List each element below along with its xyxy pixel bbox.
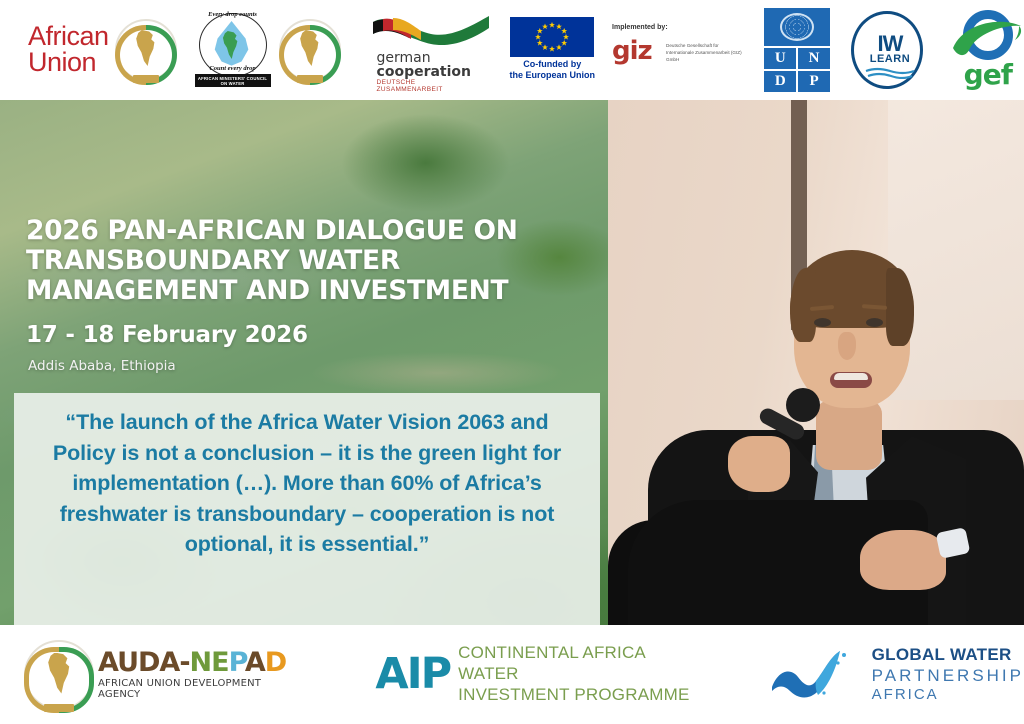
giz-subtext: Deutsche Gesellschaft für Internationale… bbox=[666, 42, 746, 63]
eu-caption-line2: the European Union bbox=[500, 70, 604, 81]
event-banner: 2026 PAN-AFRICAN DIALOGUE ON TRANSBOUNDA… bbox=[0, 100, 1024, 625]
logo-african-union-emblem bbox=[279, 19, 341, 81]
african-union-wordmark: African Union bbox=[28, 24, 109, 76]
footer-logo-bar: AUDA-NEPAD AFRICAN UNION DEVELOPMENT AGE… bbox=[0, 625, 1024, 724]
event-title: 2026 PAN-AFRICAN DIALOGUE ON TRANSBOUNDA… bbox=[26, 216, 546, 307]
logo-german-cooperation: german cooperation DEUTSCHE ZUSAMMENARBE… bbox=[363, 12, 483, 88]
eu-flag-icon bbox=[510, 17, 594, 57]
aip-fullname: CONTINENTAL AFRICA WATER INVESTMENT PROG… bbox=[458, 643, 701, 705]
african-union-emblem-icon bbox=[115, 19, 177, 81]
logo-undp: U N D P bbox=[764, 8, 825, 92]
african-union-emblem-icon-2 bbox=[279, 19, 341, 81]
wave-icon bbox=[865, 67, 915, 79]
german-cooperation-line2: cooperation bbox=[377, 64, 471, 80]
gef-swoosh-icon bbox=[949, 16, 1024, 60]
gwp-wave-icon bbox=[768, 645, 864, 705]
poster-root: African Union Every drop counts Count ev… bbox=[0, 0, 1024, 724]
auda-part-ne: NE bbox=[190, 647, 229, 678]
logo-giz: Implemented by: giz Deutsche Gesellschaf… bbox=[604, 20, 742, 80]
undp-letter-d: D bbox=[764, 71, 796, 92]
event-location: Addis Ababa, Ethiopia bbox=[28, 358, 176, 374]
auda-nepad-emblem-icon bbox=[24, 640, 94, 710]
logo-auda-nepad: AUDA-NEPAD AFRICAN UNION DEVELOPMENT AGE… bbox=[24, 640, 299, 710]
gwp-line2: PARTNERSHIP bbox=[872, 666, 1024, 686]
speaker-photo bbox=[608, 100, 1024, 625]
eu-caption-line1: Co-funded by bbox=[500, 59, 604, 70]
auda-part-dash: - bbox=[179, 647, 189, 678]
logo-gef: gef bbox=[945, 8, 1024, 92]
gwp-line1: GLOBAL WATER bbox=[872, 645, 1024, 665]
giz-implemented-by-label: Implemented by: bbox=[612, 24, 668, 31]
amcow-top-text: Every drop counts bbox=[197, 11, 269, 18]
logo-global-water-partnership: GLOBAL WATER PARTNERSHIP AFRICA bbox=[768, 645, 1024, 705]
auda-part-auda: AUDA bbox=[98, 647, 179, 678]
logo-african-union: African Union bbox=[28, 4, 177, 96]
german-cooperation-line3: DEUTSCHE ZUSAMMENARBEIT bbox=[377, 79, 483, 93]
giz-wordmark: giz bbox=[612, 36, 652, 66]
logo-european-union: Co-funded by the European Union bbox=[500, 13, 596, 87]
auda-part-a: A bbox=[245, 647, 265, 678]
german-ribbon-icon bbox=[371, 14, 491, 48]
event-title-line-3: MANAGEMENT AND INVESTMENT bbox=[26, 276, 546, 306]
amcow-caption: AFRICAN MINISTERS' COUNCIL ON WATER bbox=[195, 74, 271, 87]
aip-wordmark: AIP bbox=[375, 653, 450, 696]
aip-fullname-line2: INVESTMENT PROGRAMME bbox=[458, 685, 701, 706]
auda-part-p: P bbox=[229, 647, 245, 678]
auda-nepad-wordmark: AUDA-NEPAD bbox=[98, 649, 299, 676]
undp-letter-p: P bbox=[798, 71, 830, 92]
un-globe-icon bbox=[780, 13, 814, 41]
partner-logo-bar: African Union Every drop counts Count ev… bbox=[0, 0, 1024, 100]
undp-letter-n: N bbox=[798, 48, 830, 69]
undp-letter-u: U bbox=[764, 48, 796, 69]
auda-part-d: D bbox=[265, 647, 286, 678]
logo-aip: AIP CONTINENTAL AFRICA WATER INVESTMENT … bbox=[375, 643, 701, 705]
auda-nepad-tagline: AFRICAN UNION DEVELOPMENT AGENCY bbox=[98, 678, 299, 700]
iw-learn-line2: LEARN bbox=[851, 53, 929, 65]
event-title-line-2: TRANSBOUNDARY WATER bbox=[26, 246, 546, 276]
gef-wordmark: gef bbox=[945, 58, 1024, 91]
event-title-line-1: 2026 PAN-AFRICAN DIALOGUE ON bbox=[26, 216, 546, 246]
african-union-line2: Union bbox=[28, 50, 109, 76]
gwp-line3: AFRICA bbox=[872, 686, 1024, 704]
amcow-bottom-text: Count every drop bbox=[197, 65, 269, 72]
eu-caption: Co-funded by the European Union bbox=[500, 59, 604, 82]
logo-amcow: Every drop counts Count every drop AFRIC… bbox=[195, 11, 265, 89]
logo-iw-learn: IW LEARN bbox=[851, 11, 923, 89]
event-dates: 17 - 18 February 2026 bbox=[26, 322, 308, 348]
aip-fullname-line1: CONTINENTAL AFRICA WATER bbox=[458, 643, 701, 684]
quote-card: “The launch of the Africa Water Vision 2… bbox=[14, 393, 600, 625]
quote-text: “The launch of the Africa Water Vision 2… bbox=[32, 407, 582, 560]
